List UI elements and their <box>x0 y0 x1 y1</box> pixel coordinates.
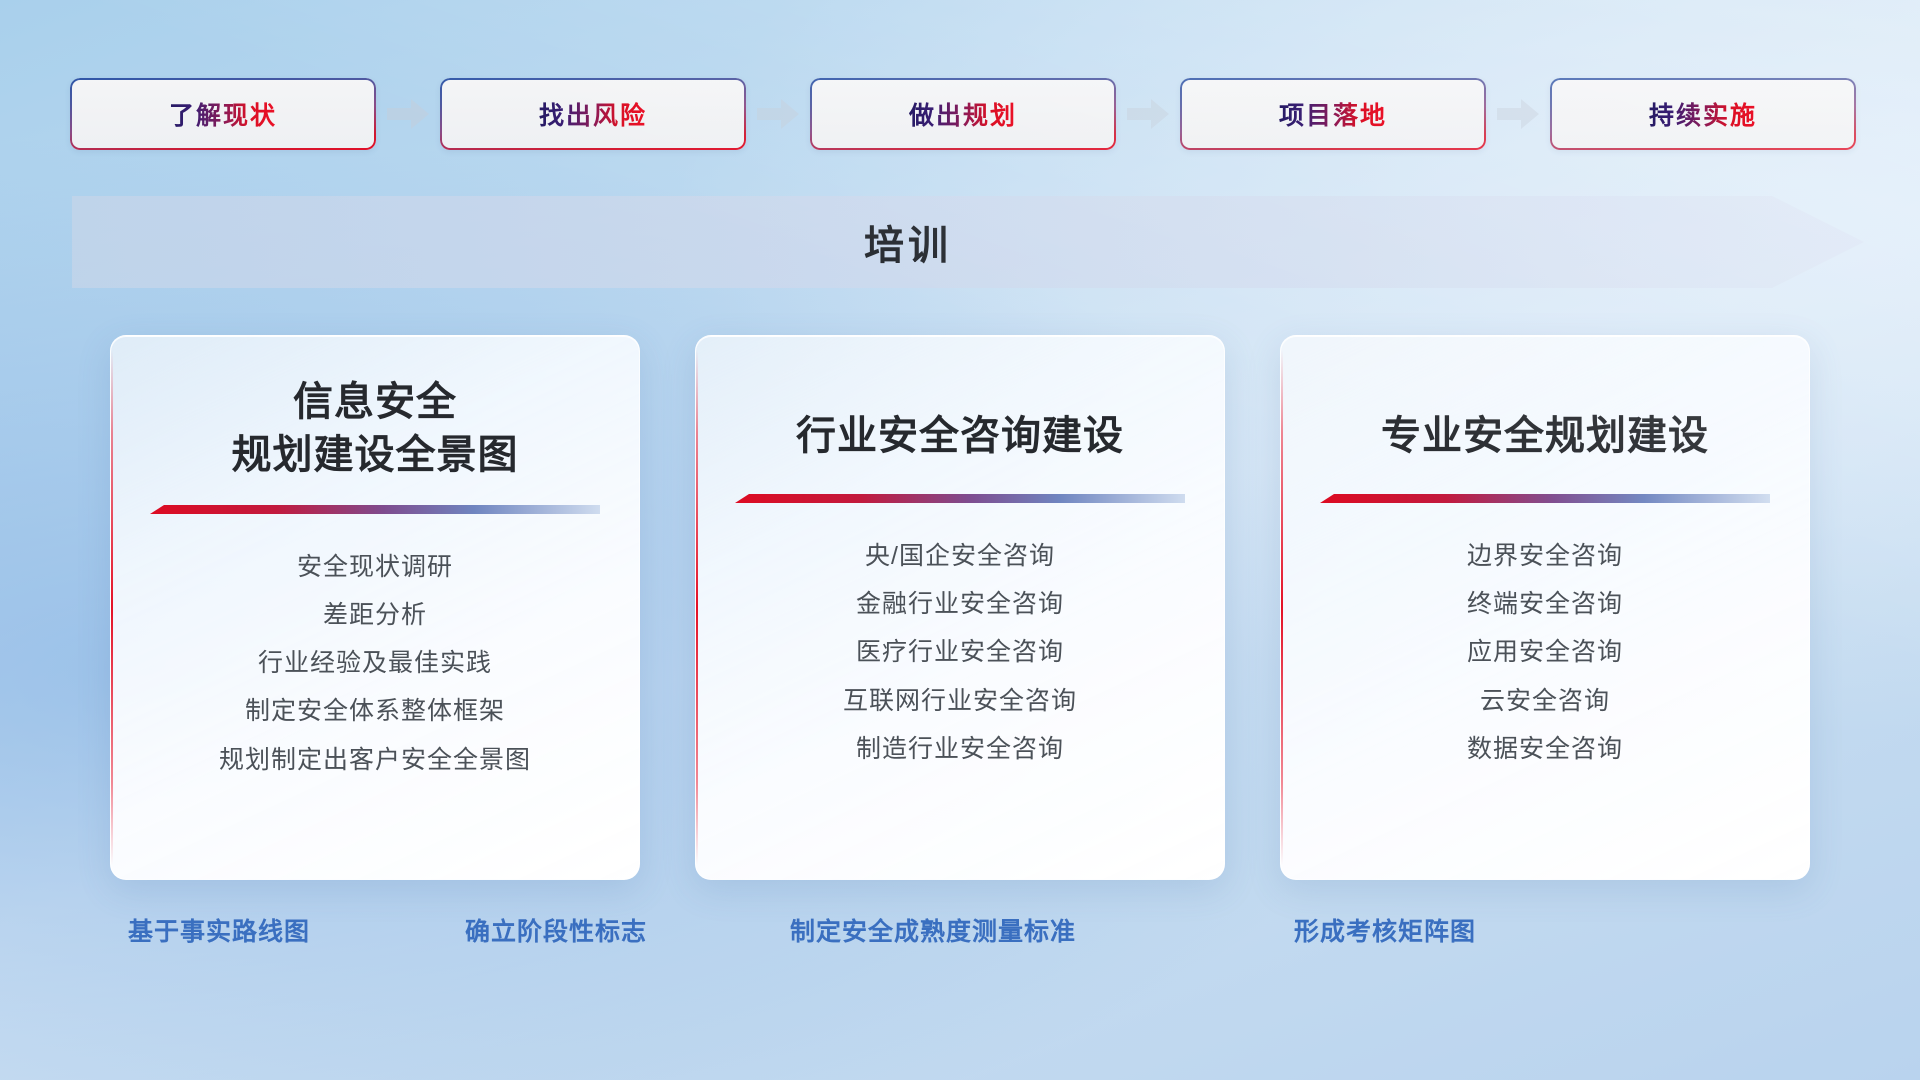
card-title-line: 规划建设全景图 <box>111 429 639 482</box>
list-item: 数据安全咨询 <box>1467 734 1623 765</box>
gradient-divider-icon <box>150 504 600 518</box>
list-item: 云安全咨询 <box>1480 686 1610 717</box>
footer-label-4: 形成考核矩阵图 <box>1294 912 1476 948</box>
card-professional-security-planning[interactable]: 专业安全规划建设 边界安全咨询 终端安全咨询 应用安全咨询 <box>1280 335 1810 880</box>
step-chip-4[interactable]: 项目落地 <box>1180 78 1486 150</box>
step-label: 项目落地 <box>1279 96 1387 132</box>
list-item: 医疗行业安全咨询 <box>856 637 1064 668</box>
card-title: 信息安全 规划建设全景图 <box>111 376 639 482</box>
list-item: 规划制定出客户安全全景图 <box>219 745 531 776</box>
step-label: 持续实施 <box>1649 96 1757 132</box>
card-title: 行业安全咨询建设 <box>696 410 1224 463</box>
list-item: 应用安全咨询 <box>1467 637 1623 668</box>
list-item: 行业经验及最佳实践 <box>258 648 492 679</box>
list-item: 制造行业安全咨询 <box>856 734 1064 765</box>
list-item: 金融行业安全咨询 <box>856 589 1064 620</box>
list-item: 安全现状调研 <box>297 552 453 583</box>
card-title: 专业安全规划建设 <box>1281 410 1809 463</box>
step-chip-1[interactable]: 了解现状 <box>70 78 376 150</box>
list-item: 互联网行业安全咨询 <box>843 686 1077 717</box>
step-chip-5[interactable]: 持续实施 <box>1550 78 1856 150</box>
card-item-list: 安全现状调研 差距分析 行业经验及最佳实践 制定安全体系整体框架 规划制定出客户… <box>111 552 639 776</box>
arrow-right-icon <box>1125 97 1171 131</box>
step-chip-3[interactable]: 做出规划 <box>810 78 1116 150</box>
card-title-line: 信息安全 <box>111 376 639 429</box>
step-label: 找出风险 <box>539 96 647 132</box>
card-row: 信息安全 规划建设全景图 安全现状调研 差距分析 行业经 <box>110 335 1810 880</box>
card-title-line: 行业安全咨询建设 <box>696 410 1224 463</box>
arrow-right-icon <box>755 97 801 131</box>
list-item: 差距分析 <box>323 600 427 631</box>
arrow-right-icon <box>1495 97 1541 131</box>
footer-label-2: 确立阶段性标志 <box>465 912 647 948</box>
arrow-right-icon <box>385 97 431 131</box>
banner-title: 培训 <box>72 196 1744 288</box>
footer-label-row: 基于事实路线图 确立阶段性标志 制定安全成熟度测量标准 形成考核矩阵图 <box>0 912 1920 958</box>
card-title-line: 专业安全规划建设 <box>1281 410 1809 463</box>
card-industry-security-consulting[interactable]: 行业安全咨询建设 央/国企安全咨询 金融行业安全咨询 医疗行业安全咨 <box>695 335 1225 880</box>
footer-label-3: 制定安全成熟度测量标准 <box>790 912 1076 948</box>
list-item: 终端安全咨询 <box>1467 589 1623 620</box>
footer-label-1: 基于事实路线图 <box>128 912 310 948</box>
card-item-list: 边界安全咨询 终端安全咨询 应用安全咨询 云安全咨询 数据安全咨询 <box>1281 541 1809 765</box>
gradient-divider-icon <box>1320 493 1770 507</box>
card-information-security-blueprint[interactable]: 信息安全 规划建设全景图 安全现状调研 差距分析 行业经 <box>110 335 640 880</box>
step-label: 做出规划 <box>909 96 1017 132</box>
card-item-list: 央/国企安全咨询 金融行业安全咨询 医疗行业安全咨询 互联网行业安全咨询 制造行… <box>696 541 1224 765</box>
list-item: 边界安全咨询 <box>1467 541 1623 572</box>
list-item: 制定安全体系整体框架 <box>245 696 505 727</box>
process-step-row: 了解现状 找出风险 做出规划 项目落地 持续实施 <box>70 78 1856 150</box>
gradient-divider-icon <box>735 493 1185 507</box>
list-item: 央/国企安全咨询 <box>865 541 1055 572</box>
training-banner: 培训 <box>72 196 1864 288</box>
step-chip-2[interactable]: 找出风险 <box>440 78 746 150</box>
step-label: 了解现状 <box>169 96 277 132</box>
